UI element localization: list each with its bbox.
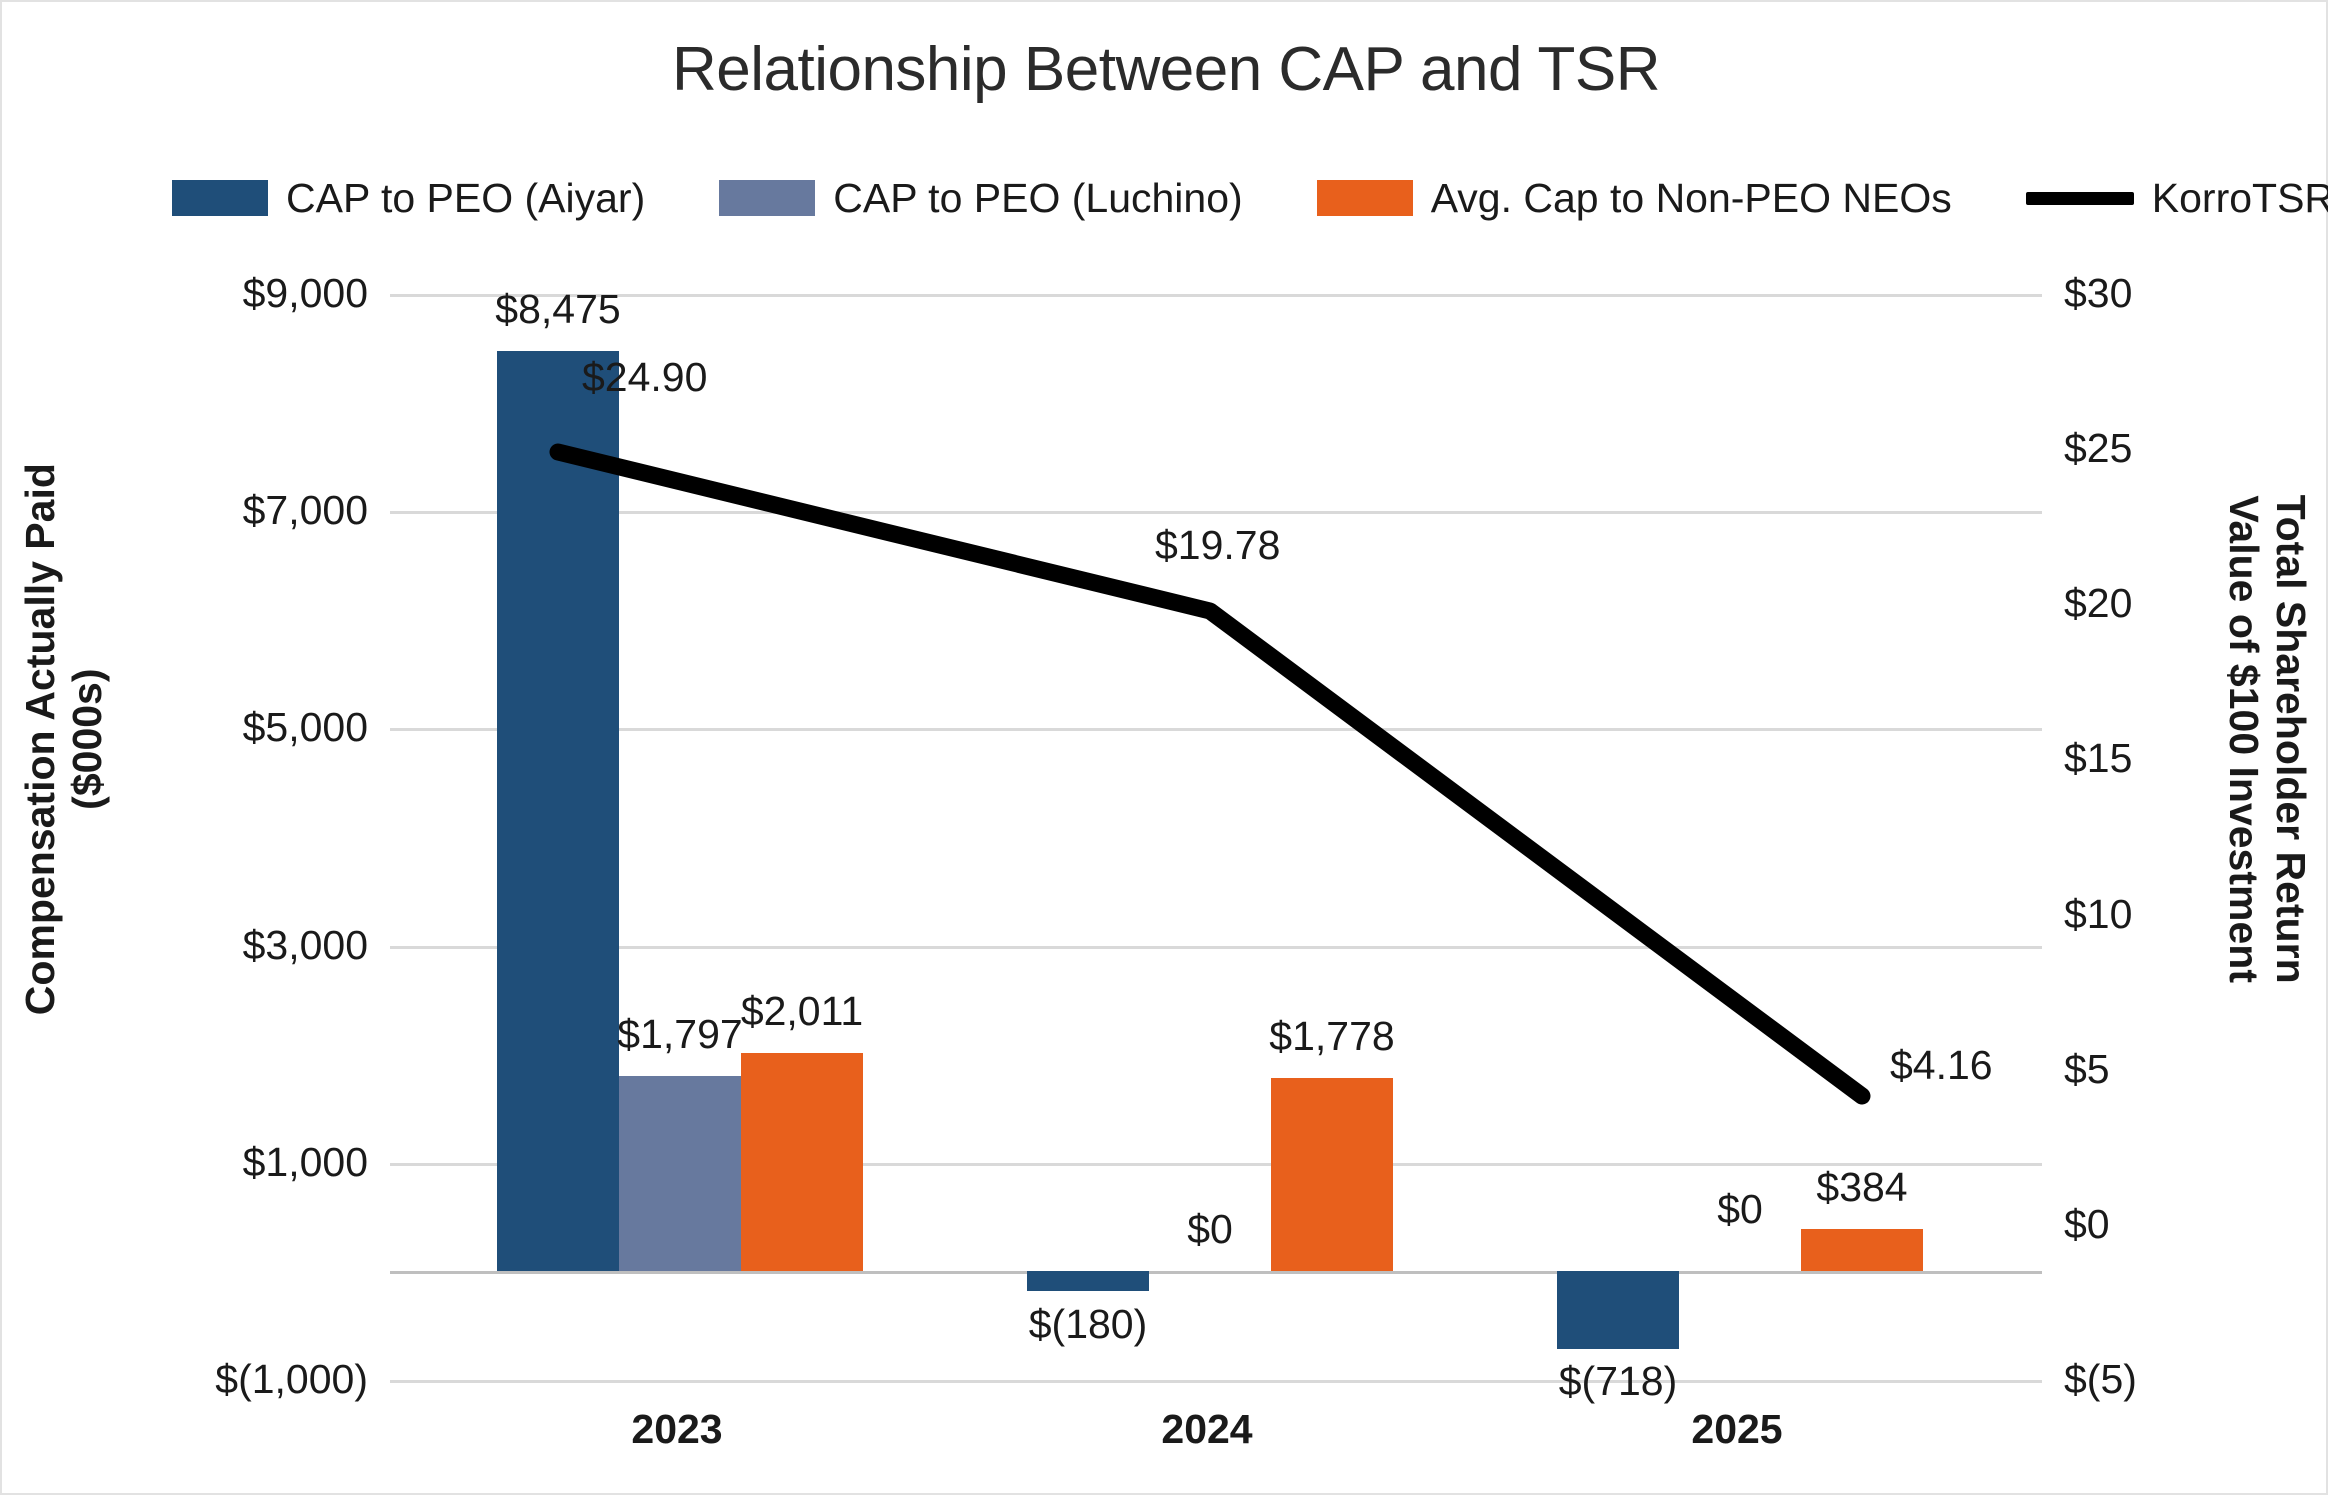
chart-title: Relationship Between CAP and TSR xyxy=(2,34,2328,105)
y-axis-left-tick-1000: $1,000 xyxy=(128,1139,368,1186)
y-axis-left-tick-9000: $9,000 xyxy=(128,270,368,317)
chart-legend: CAP to PEO (Aiyar) CAP to PEO (Luchino) … xyxy=(172,170,2328,226)
gridline-neg1000 xyxy=(390,1380,2042,1383)
legend-spacer xyxy=(1243,198,1317,199)
y-axis-left-tick-3000: $3,000 xyxy=(128,922,368,969)
legend-swatch-avg-cap-non-peo-neos xyxy=(1317,180,1413,216)
legend-label-cap-peo-luchino: CAP to PEO (Luchino) xyxy=(833,175,1242,222)
tsr-label-2024: $19.78 xyxy=(1155,522,1280,569)
y-axis-right-title-line1: Total Shareholder Return xyxy=(2268,495,2314,984)
x-axis-tick-2024: 2024 xyxy=(1087,1406,1327,1453)
legend-label-avg-cap-non-peo-neos: Avg. Cap to Non-PEO NEOs xyxy=(1431,175,1952,222)
y-axis-left-tick-5000: $5,000 xyxy=(128,704,368,751)
x-axis-tick-2025: 2025 xyxy=(1617,1406,1857,1453)
legend-item-cap-peo-luchino[interactable]: CAP to PEO (Luchino) xyxy=(719,175,1242,222)
tsr-label-2023: $24.90 xyxy=(582,354,707,401)
legend-spacer xyxy=(645,198,719,199)
tsr-label-2025: $4.16 xyxy=(1890,1042,1993,1089)
y-axis-left-tick-neg1000: $(1,000) xyxy=(128,1356,368,1403)
y-axis-left-tick-7000: $7,000 xyxy=(128,487,368,534)
legend-swatch-cap-peo-aiyar xyxy=(172,180,268,216)
y-axis-left-title-line2: ($000s) xyxy=(64,668,110,809)
legend-item-korrotsr[interactable]: KorroTSR xyxy=(2026,175,2328,222)
y-axis-right-tick-30: $30 xyxy=(2064,270,2264,317)
plot-area: $8,475 $1,797 $2,011 $(180) $0 $1,778 $(… xyxy=(390,294,2042,1380)
legend-line-korrotsr xyxy=(2026,192,2134,205)
x-axis-tick-2023: 2023 xyxy=(557,1406,797,1453)
legend-spacer xyxy=(1952,198,2026,199)
y-axis-right-tick-5: $5 xyxy=(2064,1046,2264,1093)
legend-item-avg-cap-non-peo-neos[interactable]: Avg. Cap to Non-PEO NEOs xyxy=(1317,175,1952,222)
legend-swatch-cap-peo-luchino xyxy=(719,180,815,216)
legend-item-cap-peo-aiyar[interactable]: CAP to PEO (Aiyar) xyxy=(172,175,645,222)
y-axis-left-title-line1: Compensation Actually Paid xyxy=(17,463,63,1015)
y-axis-right-tick-0: $0 xyxy=(2064,1201,2264,1248)
y-axis-right-tick-neg5: $(5) xyxy=(2064,1356,2264,1403)
tsr-line-series xyxy=(390,294,2042,1380)
legend-label-cap-peo-aiyar: CAP to PEO (Aiyar) xyxy=(286,175,645,222)
y-axis-right-title-line2: Value of $100 Investment xyxy=(2221,495,2267,983)
y-axis-right-title: Total Shareholder Return Value of $100 I… xyxy=(2220,459,2314,1019)
legend-label-korrotsr: KorroTSR xyxy=(2152,175,2328,222)
chart-container: Relationship Between CAP and TSR CAP to … xyxy=(0,0,2328,1495)
y-axis-left-title: Compensation Actually Paid ($000s) xyxy=(17,459,111,1019)
